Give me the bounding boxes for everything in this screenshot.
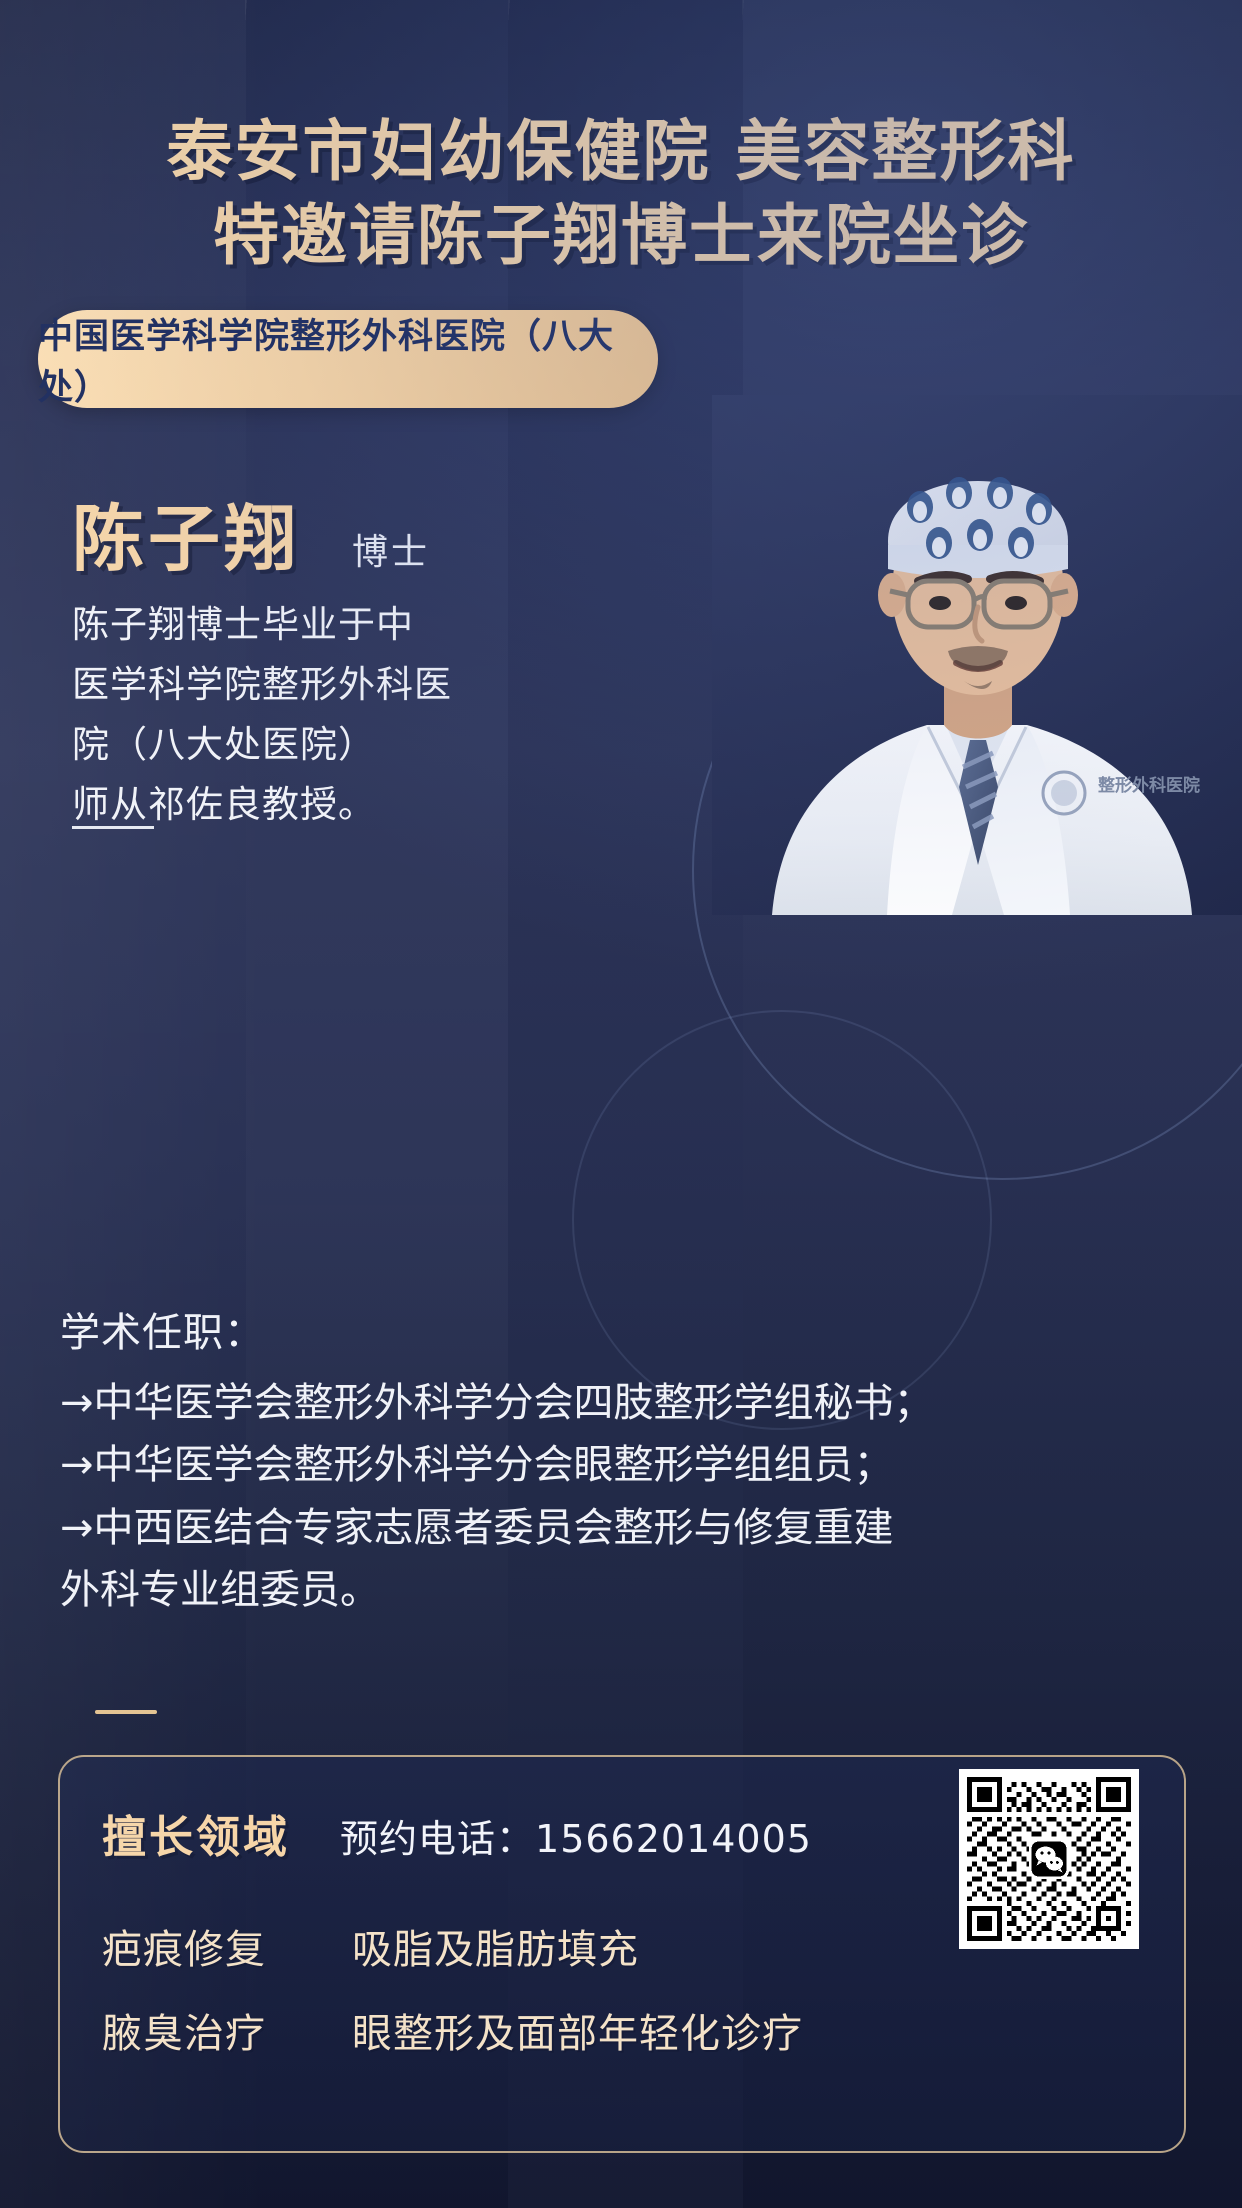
title-line-1: 泰安市妇幼保健院 美容整形科	[167, 113, 1076, 190]
doctor-bio: 陈子翔博士毕业于中 医学科学院整形外科医 院（八大处医院） 师从祁佐良教授。	[72, 595, 492, 835]
specialty-card-header: 擅长领域 预约电话：15662014005	[102, 1801, 812, 1865]
phone-label: 预约电话：	[340, 1817, 535, 1861]
academic-heading: 学术任职：	[60, 1300, 1190, 1358]
appointment-phone[interactable]: 预约电话：15662014005	[340, 1808, 812, 1863]
title-line-2: 特邀请陈子翔博士来院坐诊	[0, 194, 1242, 278]
gold-divider	[95, 1710, 157, 1714]
academic-item: →中华医学会整形外科学分会眼整形学组组员；	[60, 1434, 1190, 1496]
hospital-badge: 中国医学科学院整形外科医院（八大处）	[38, 310, 658, 408]
academic-item: →中西医结合专家志愿者委员会整形与修复重建	[60, 1497, 1190, 1559]
doctor-photo: 整形外科医院	[712, 395, 1242, 915]
svg-text:整形外科医院: 整形外科医院	[1098, 775, 1200, 796]
specialty-card: 擅长领域 预约电话：15662014005 疤痕修复 吸脂及脂肪填充 腋臭治疗 …	[58, 1755, 1186, 2153]
bio-line: 医学科学院整形外科医	[72, 655, 492, 715]
doctor-degree: 博士	[352, 523, 430, 575]
specialty-item: 疤痕修复	[102, 1917, 352, 1975]
specialty-row: 腋臭治疗 眼整形及面部年轻化诊疗	[102, 2001, 1142, 2059]
doctor-name: 陈子翔	[72, 480, 300, 585]
bio-line: 院（八大处医院）	[72, 715, 492, 775]
poster-root: 泰安市妇幼保健院 美容整形科 特邀请陈子翔博士来院坐诊 中国医学科学院整形外科医…	[0, 0, 1242, 2208]
academic-item: 外科专业组委员。	[60, 1559, 1190, 1621]
wechat-qr-code-icon[interactable]	[959, 1769, 1139, 1949]
phone-number: 15662014005	[535, 1817, 812, 1861]
specialty-item: 吸脂及脂肪填充	[352, 1917, 639, 1975]
specialty-item: 腋臭治疗	[102, 2001, 352, 2059]
academic-section: 学术任职： →中华医学会整形外科学分会四肢整形学组秘书； →中华医学会整形外科学…	[60, 1300, 1190, 1622]
specialty-item: 眼整形及面部年轻化诊疗	[352, 2001, 803, 2059]
specialty-card-title: 擅长领域	[102, 1801, 290, 1865]
academic-item: →中华医学会整形外科学分会四肢整形学组秘书；	[60, 1372, 1190, 1434]
doctor-name-row: 陈子翔 博士	[72, 480, 430, 585]
poster-title: 泰安市妇幼保健院 美容整形科 特邀请陈子翔博士来院坐诊	[0, 110, 1242, 279]
bio-line: 师从祁佐良教授。	[72, 775, 376, 835]
bio-line: 陈子翔博士毕业于中	[72, 595, 492, 655]
